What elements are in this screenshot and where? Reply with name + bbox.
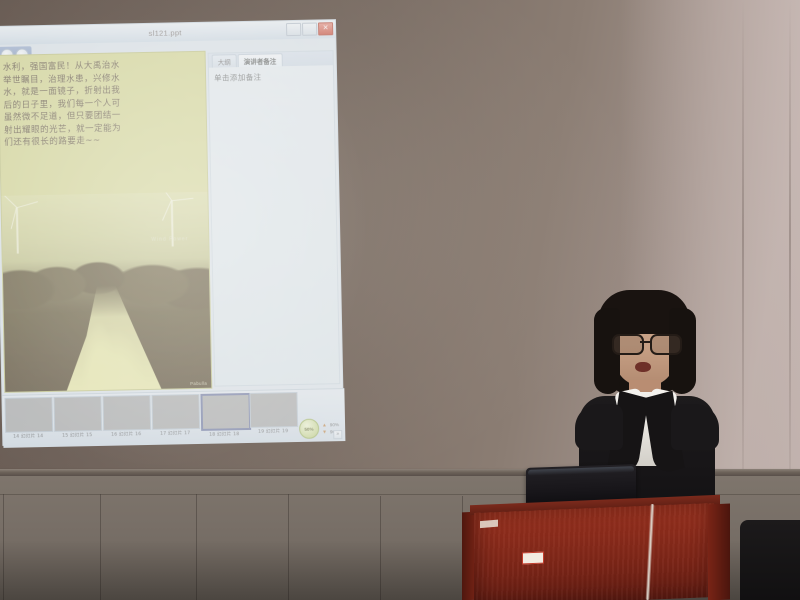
slide-thumbnail[interactable]: 14 幻灯片 14 [4,397,51,440]
eyeglasses-icon [610,334,680,351]
scroll-right-button[interactable]: » [333,430,342,439]
photo-watermark: Wind Power [151,236,188,243]
thumbnail-caption: 19 幻灯片 19 [250,428,296,435]
chevron-up-icon: ▲ [322,422,327,428]
thumbnail-image [53,396,102,432]
maximize-button[interactable] [302,23,317,36]
tab-outline[interactable]: 大纲 [212,54,237,67]
minimize-button[interactable] [286,23,301,36]
presenter-work-area: 水利，强国富民！从大禹治水 举世瞩目，治理水患，兴修水 水，就是一面镜子，折射出… [0,38,342,393]
thumbnail-caption: 14 幻灯片 14 [5,433,51,440]
speaker-notes-panel: 大纲 演讲者备注 单击添加备注 [208,50,341,386]
slide-text-line: 们还有很长的路要走~~ [4,133,202,149]
zoom-dial-icon[interactable]: 50% [299,419,319,439]
photo-caption: Pabulla [190,381,207,386]
chair [740,520,800,600]
thumbnail-caption: 15 幻灯片 15 [54,432,100,439]
podium-asset-label [522,552,544,565]
thumbnail-caption: 16 幻灯片 16 [103,431,149,438]
slide-thumbnail[interactable]: 19 幻灯片 19 [249,392,296,435]
left-lens [612,334,644,355]
wind-turbine-icon [157,192,186,255]
window-title: sl121.ppt [149,28,182,38]
turbine-mast [16,208,18,254]
wall-seam-line [789,0,791,472]
zoom-increase-row[interactable]: ▲ 90% [322,422,339,428]
thumbnail-caption: 18 幻灯片 18 [201,431,247,438]
slide-text-block: 水利，强国富民！从大禹治水 举世瞩目，治理水患，兴修水 水，就是一面镜子，折射出… [0,52,206,150]
turbine-blade [1,192,17,208]
wood-grain-texture [474,503,714,600]
projected-presenter-view: sl121.ppt 水利，强国富民！从大禹治水 举世瞩目，治理水患，兴修水 [0,19,355,454]
tab-speaker-notes[interactable]: 演讲者备注 [238,53,283,67]
notes-placeholder[interactable]: 单击添加备注 [209,65,333,88]
thumbnail-image [249,392,298,428]
slide-thumbnail[interactable]: 15 幻灯片 15 [53,396,100,439]
thumbnail-image [200,393,251,431]
chevron-down-icon: ▼ [322,429,327,435]
current-slide-preview[interactable]: 水利，强国富民！从大禹治水 举世瞩目，治理水患，兴修水 水，就是一面镜子，折射出… [0,51,212,393]
blazer-shoulder-right [671,404,719,450]
thumbnail-image [4,397,53,433]
slide-thumbnail[interactable]: 16 幻灯片 16 [102,395,149,438]
lecture-room-scene: sl121.ppt 水利，强国富民！从大禹治水 举世瞩目，治理水患，兴修水 [0,0,800,600]
podium [470,500,730,600]
powerpoint-window: sl121.ppt 水利，强国富民！从大禹治水 举世瞩目，治理水患，兴修水 [0,19,344,446]
thumbnail-image [151,394,200,430]
laptop-screen [528,466,634,476]
podium-right-edge [708,504,730,600]
glasses-bridge [640,341,650,343]
zoom-up-value: 90% [330,422,339,427]
slide-thumbnail-selected[interactable]: 18 幻灯片 18 [200,393,247,438]
turbine-blade [158,192,172,201]
mouth [635,362,651,372]
blazer-shoulder-left [575,404,623,450]
right-lens [650,334,682,355]
window-controls [286,22,333,36]
slide-thumbnail[interactable]: 17 幻灯片 17 [151,394,198,437]
slide-thumbnail-strip[interactable]: 14 幻灯片 14 15 幻灯片 15 16 幻灯片 16 17 幻灯片 17 … [2,388,345,448]
wind-turbine-icon [3,197,30,258]
podium-front-panel [474,503,714,600]
thumbnail-image [102,395,151,431]
thumbnail-caption: 17 幻灯片 17 [152,430,198,437]
slide-photo: Wind Power Pabulla [1,192,211,392]
close-button[interactable] [318,22,333,35]
